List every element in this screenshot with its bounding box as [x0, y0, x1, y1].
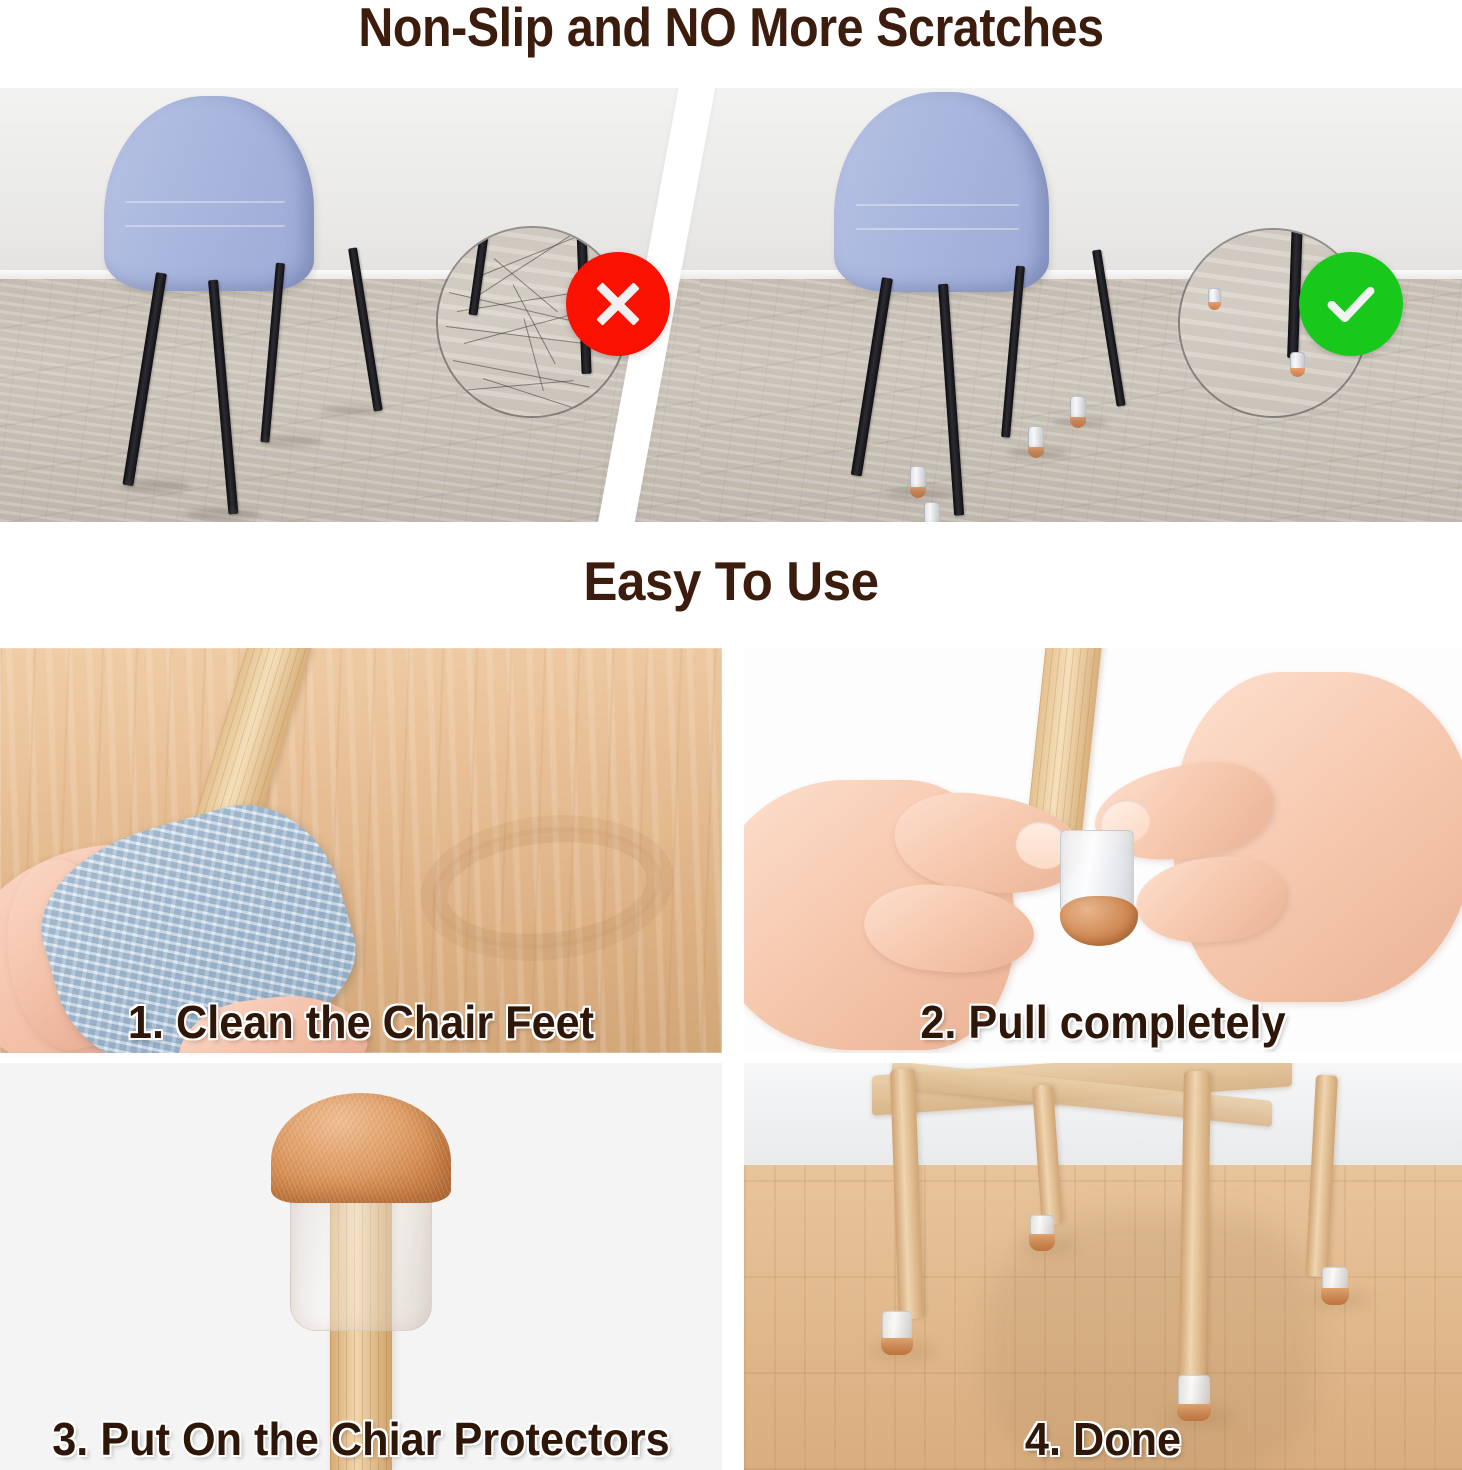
step-2-panel: 2. Pull completely [722, 648, 1462, 1053]
chair-leg [1179, 1071, 1211, 1383]
leg-shadow [886, 488, 956, 499]
step-2-photo [744, 648, 1462, 1053]
leg-shadow [120, 480, 190, 492]
leg-protector-cap [924, 502, 940, 522]
leg-shadow [260, 436, 322, 446]
chair-seat [104, 96, 314, 291]
leg-shadow [1312, 1293, 1370, 1307]
chair-without-protectors [90, 88, 410, 522]
step-3-panel: 3. Put On the Chiar Protectors [0, 1053, 722, 1470]
chair-leg [122, 272, 166, 486]
check-circle-icon [1299, 252, 1403, 356]
chair-with-protectors [820, 88, 1160, 522]
step-4-caption: 4. Done [766, 1412, 1441, 1466]
leg-protector-cap [1178, 1375, 1210, 1411]
leg-shadow [1008, 448, 1068, 458]
leg-protector-cap [1208, 288, 1221, 306]
step-1-caption: 1. Clean the Chair Feet [22, 995, 701, 1049]
infographic-page: Non-Slip and NO More Scratches [0, 0, 1462, 1470]
chair-leg [1305, 1074, 1338, 1277]
leg-shadow [186, 508, 260, 520]
chair-leg [938, 284, 964, 516]
step-3-photo [0, 1063, 722, 1470]
section-title: Easy To Use [51, 546, 1411, 618]
chair-leg [348, 247, 383, 411]
comparison-band [0, 88, 1462, 522]
leg-shadow [322, 406, 380, 415]
clear-silicone-cap [290, 1191, 432, 1331]
leg-protector-cap [1290, 352, 1305, 372]
wooden-chair [744, 1063, 1462, 1470]
steps-grid: 1. Clean the Chair Feet 2 [0, 648, 1462, 1470]
x-circle-icon [566, 252, 670, 356]
step-3-caption: 3. Put On the Chiar Protectors [22, 1412, 701, 1466]
step-1-panel: 1. Clean the Chair Feet [0, 648, 722, 1053]
chair-leg [208, 280, 238, 515]
chair-leg [1092, 249, 1126, 406]
leg-shadow [1020, 1239, 1076, 1253]
step-4-photo [744, 1063, 1462, 1470]
chair-leg [851, 277, 893, 476]
leg-protector-cap [882, 1311, 912, 1345]
chair-seat [834, 92, 1049, 292]
chair-leg [1032, 1084, 1063, 1225]
leg-shadow [870, 1343, 936, 1359]
leg-protector-cap [1030, 1215, 1054, 1241]
step-1-photo [0, 648, 722, 1053]
step-4-panel: 4. Done [722, 1053, 1462, 1470]
leg-protector-cap [1322, 1267, 1348, 1295]
step-2-caption: 2. Pull completely [766, 995, 1441, 1049]
leg-shadow [1052, 418, 1108, 427]
page-title: Non-Slip and NO More Scratches [88, 0, 1375, 62]
